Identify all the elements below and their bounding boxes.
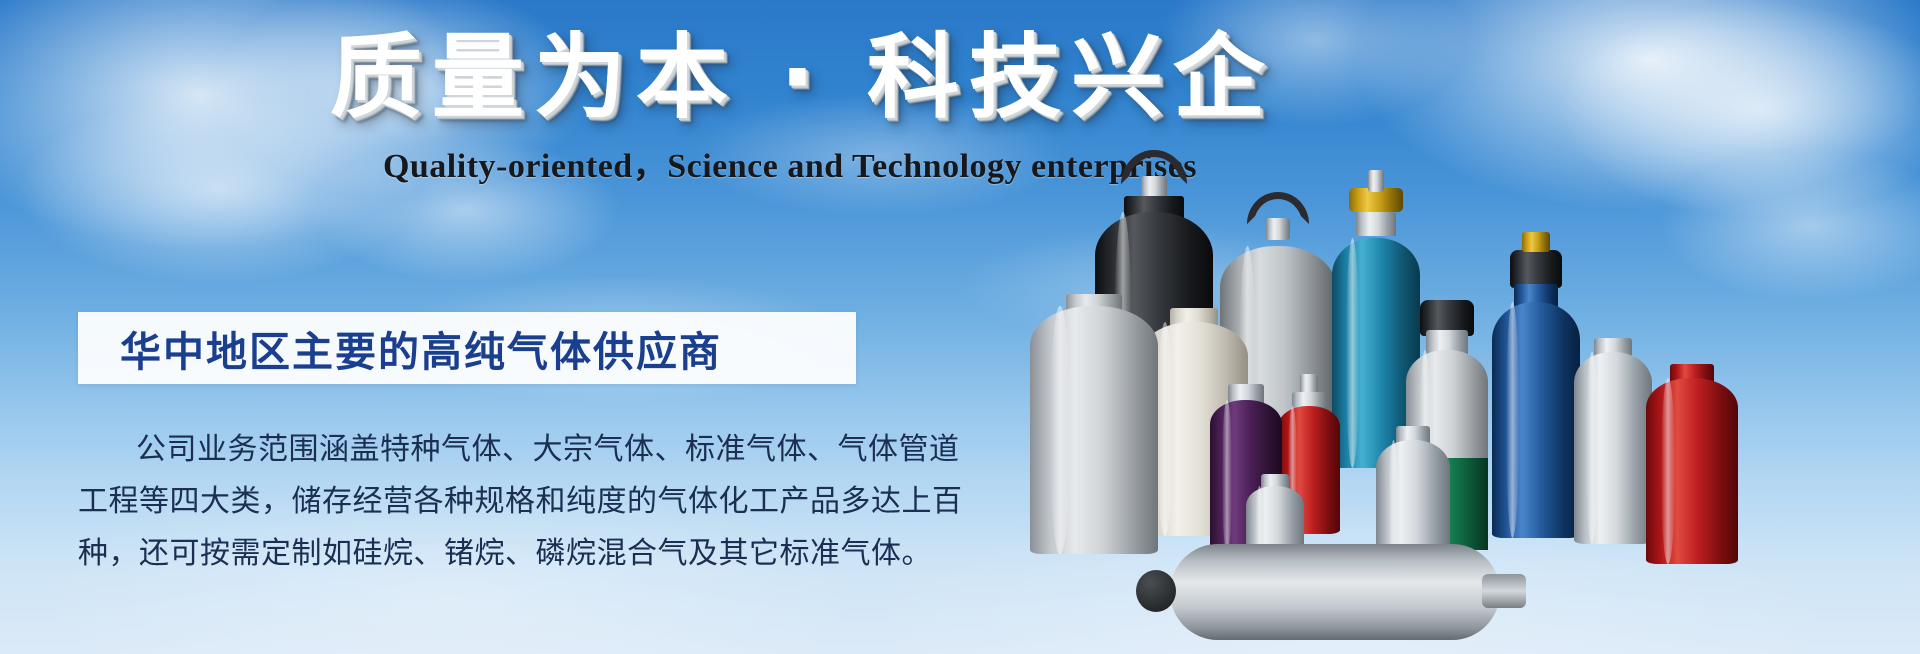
cylinder-body — [1030, 306, 1158, 554]
brass-valve-icon — [1522, 232, 1550, 252]
tank-valve-knob-icon — [1136, 570, 1176, 612]
highlight-banner-box: 华中地区主要的高纯气体供应商 — [78, 312, 856, 384]
description-line-3: 种，还可按需定制如硅烷、锗烷、磷烷混合气及其它标准气体。 — [78, 528, 878, 580]
highlight-banner-text: 华中地区主要的高纯气体供应商 — [120, 318, 722, 378]
cylinder-neck — [1356, 212, 1396, 236]
dark-blue-cylinder — [1492, 288, 1580, 538]
cylinder-sheen — [1050, 306, 1069, 554]
cylinder-sheen — [1346, 238, 1359, 468]
cylinder-body — [1492, 302, 1580, 538]
cylinder-cap-icon — [1510, 250, 1562, 288]
description-line-2: 工程等四大类，储存经营各种规格和纯度的气体化工产品多达上百 — [78, 476, 878, 528]
red-tall-cylinder — [1646, 364, 1738, 564]
cylinder-body — [1574, 352, 1652, 544]
description-line-1: 公司业务范围涵盖特种气体、大宗气体、标准气体、气体管道 — [78, 424, 878, 476]
cylinder-sheen — [1586, 352, 1598, 544]
cylinder-sheen — [1157, 322, 1173, 536]
cylinder-body — [1646, 378, 1738, 564]
promotional-banner: 质量为本 · 科技兴企 Quality-oriented，Science and… — [0, 0, 1920, 654]
cylinder-sheen — [1506, 302, 1519, 538]
banner-description: 公司业务范围涵盖特种气体、大宗气体、标准气体、气体管道 工程等四大类，储存经营各… — [78, 424, 878, 580]
banner-headline: 质量为本 · 科技兴企 — [330, 24, 1250, 133]
tank-nozzle — [1482, 574, 1526, 608]
banner-subtitle: Quality-oriented，Science and Technology … — [330, 138, 1250, 187]
large-grey-cylinder — [1030, 294, 1158, 554]
silver-cylinder — [1574, 338, 1652, 544]
gas-cylinder-product-group — [1150, 0, 1920, 654]
cylinder-valve-icon — [1266, 218, 1290, 240]
valve-stem-icon — [1368, 170, 1384, 192]
cylinder-sheen — [1661, 378, 1675, 564]
horizontal-tank — [1170, 544, 1500, 640]
cylinder-sheen — [1222, 400, 1233, 552]
